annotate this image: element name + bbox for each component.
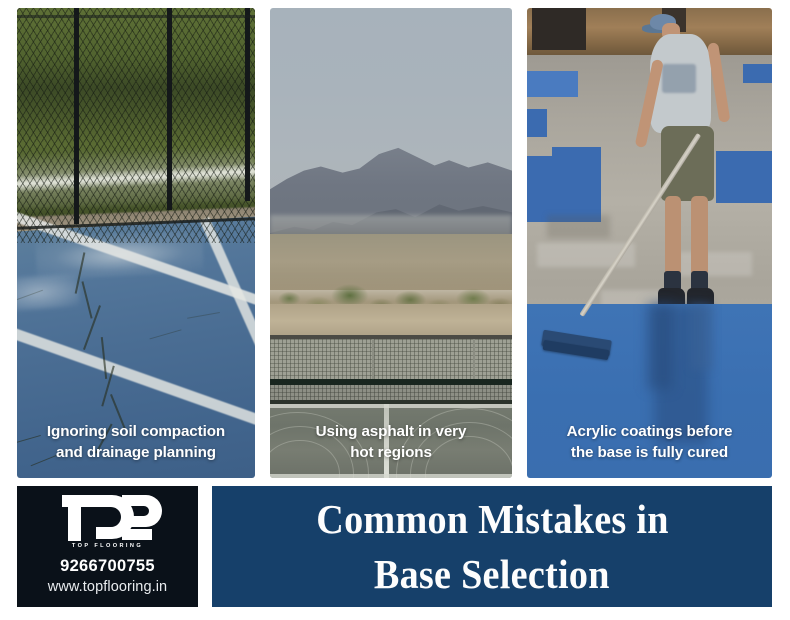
panel-2-caption-line-1: Using asphalt in very — [278, 422, 504, 443]
panel-3-acrylic-coating-worker-photo[interactable]: Acrylic coatings before the base is full… — [527, 8, 772, 478]
photo-acrylic-coating-worker — [527, 8, 772, 478]
panel-1-caption-line-1: Ignoring soil compaction — [25, 422, 247, 443]
panel-2-caption-line-2: hot regions — [278, 443, 504, 464]
panel-2-caption: Using asphalt in very hot regions — [270, 422, 512, 464]
title-line-2: Base Selection — [374, 547, 610, 601]
title-banner: Common Mistakes in Base Selection — [212, 486, 772, 607]
brand-logo-box[interactable]: TOP FLOORING 9266700755 www.topflooring.… — [17, 486, 198, 607]
photo-desert-asphalt-court — [270, 8, 512, 478]
panel-3-caption: Acrylic coatings before the base is full… — [527, 422, 772, 464]
contact-phone[interactable]: 9266700755 — [17, 557, 198, 576]
contact-website[interactable]: www.topflooring.in — [17, 579, 198, 595]
top-flooring-monogram-icon — [54, 495, 162, 546]
poster-canvas: Ignoring soil compaction and drainage pl… — [0, 0, 790, 620]
panel-1-caption: Ignoring soil compaction and drainage pl… — [17, 422, 255, 464]
panel-3-caption-line-1: Acrylic coatings before — [535, 422, 764, 443]
panel-3-caption-line-2: the base is fully cured — [535, 443, 764, 464]
logo-tagline: TOP FLOORING — [17, 543, 198, 549]
panel-1-cracked-blue-court-photo[interactable]: Ignoring soil compaction and drainage pl… — [17, 8, 255, 478]
panel-1-caption-line-2: and drainage planning — [25, 443, 247, 464]
photo-cracked-blue-court — [17, 8, 255, 478]
title-line-1: Common Mistakes in — [316, 492, 668, 546]
panel-2-desert-asphalt-court-photo[interactable]: Using asphalt in very hot regions — [270, 8, 512, 478]
